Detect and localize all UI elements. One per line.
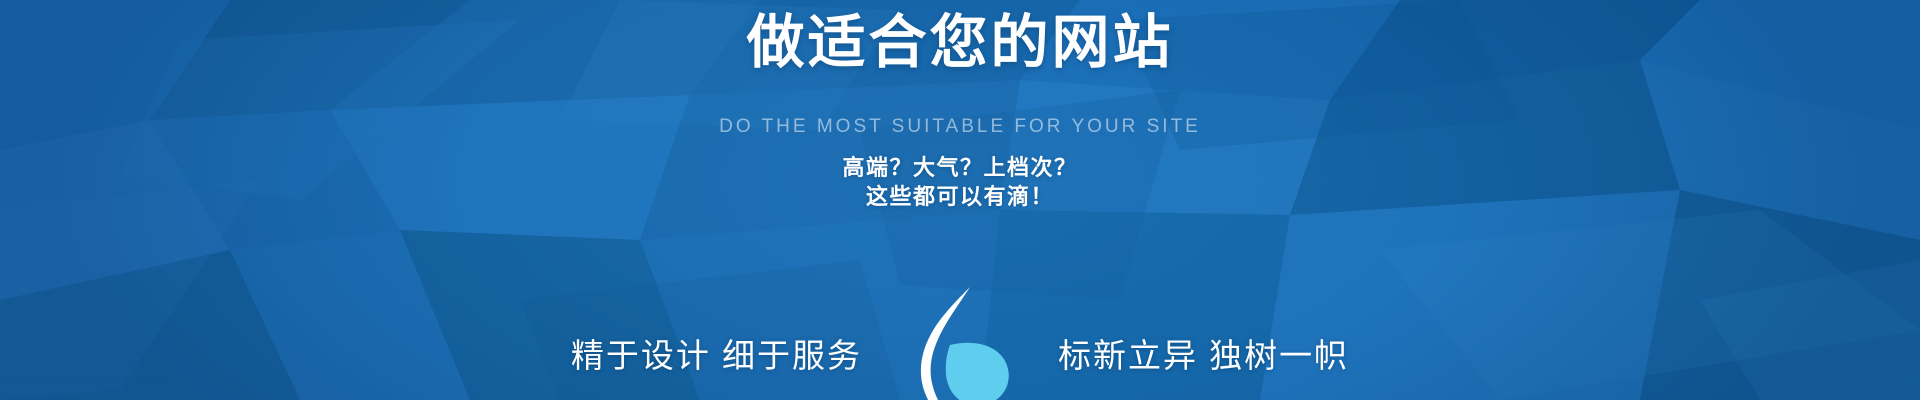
hero-banner: 做适合您的网站 DO THE MOST SUITABLE FOR YOUR SI… [0, 0, 1920, 400]
leaf-sprout-logo-icon [900, 283, 1020, 400]
banner-tagline: 高端？大气？上档次？ 这些都可以有滴！ [842, 154, 1077, 211]
tagline-line-2: 这些都可以有滴！ [842, 183, 1077, 211]
logo-leaf-top-shape [946, 343, 1009, 400]
leaf-sprout-logo-svg [900, 283, 1020, 400]
tagline-line-1: 高端？大气？上档次？ [842, 154, 1077, 182]
banner-content: 做适合您的网站 DO THE MOST SUITABLE FOR YOUR SI… [0, 0, 1920, 400]
slogan-left: 精于设计 细于服务 [470, 336, 900, 376]
banner-headline: 做适合您的网站 [746, 10, 1173, 76]
banner-subtitle-english: DO THE MOST SUITABLE FOR YOUR SITE [719, 116, 1201, 138]
slogan-right: 标新立异 独树一帜 [1020, 336, 1450, 376]
slogan-row: 精于设计 细于服务 标新立异 独树一帜 [0, 229, 1920, 400]
